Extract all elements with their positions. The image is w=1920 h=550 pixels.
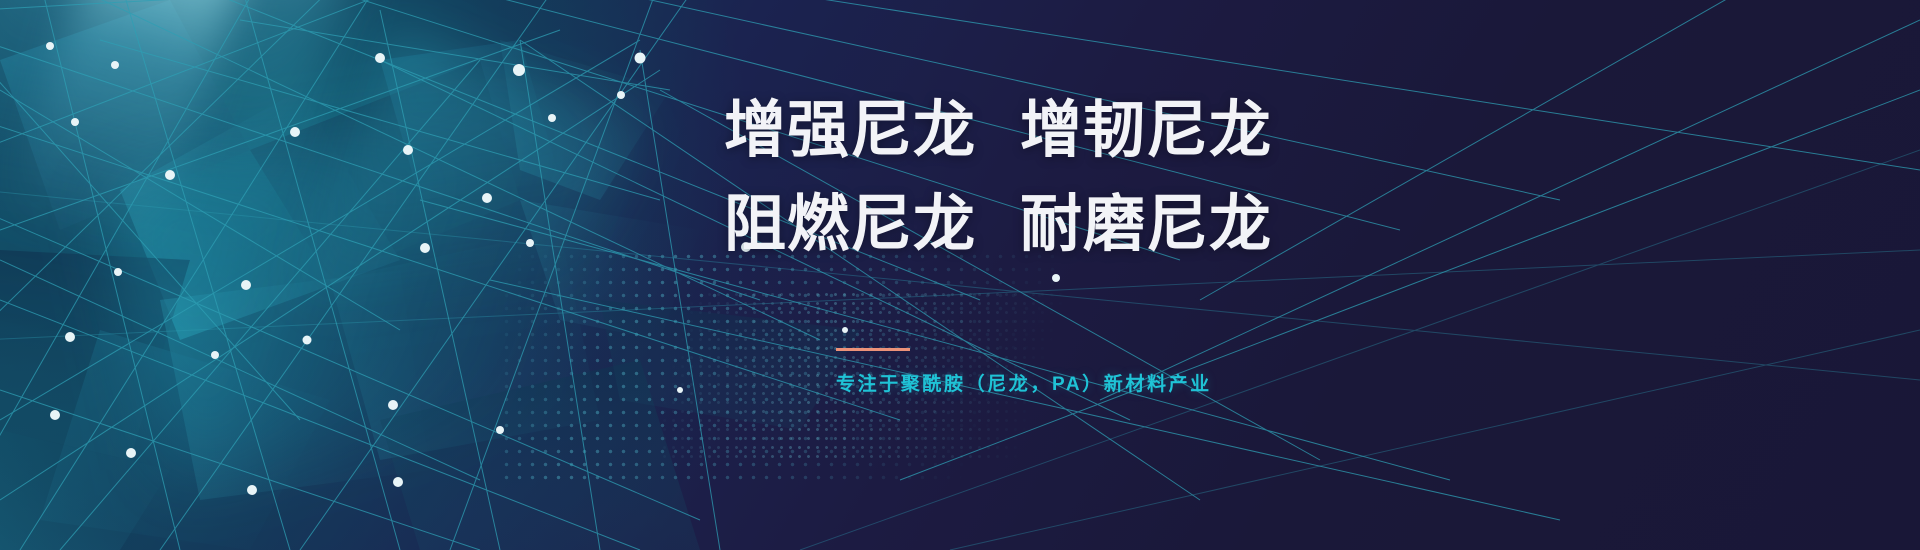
headline-line1-part1: 增强尼龙 — [724, 92, 976, 170]
headline-line2-part1: 阻燃尼龙 — [724, 186, 976, 264]
headline-line-2: 阻燃尼龙 耐磨尼龙 — [724, 186, 1484, 264]
headline-line-1: 增强尼龙 增韧尼龙 — [724, 92, 1484, 170]
headline-line1-part2: 增韧尼龙 — [1020, 92, 1272, 170]
banner-content: 增强尼龙 增韧尼龙 阻燃尼龙 耐磨尼龙 专注于聚酰胺（尼龙，PA）新材料产业 — [724, 0, 1484, 550]
hero-banner: 增强尼龙 增韧尼龙 阻燃尼龙 耐磨尼龙 专注于聚酰胺（尼龙，PA）新材料产业 — [0, 0, 1920, 550]
headline-group: 增强尼龙 增韧尼龙 阻燃尼龙 耐磨尼龙 — [724, 92, 1484, 264]
subtitle-group: 专注于聚酰胺（尼龙，PA）新材料产业 — [836, 348, 1212, 396]
subtitle-divider — [836, 348, 910, 351]
subtitle-text: 专注于聚酰胺（尼龙，PA）新材料产业 — [836, 369, 1212, 396]
headline-line2-part2: 耐磨尼龙 — [1020, 186, 1272, 264]
